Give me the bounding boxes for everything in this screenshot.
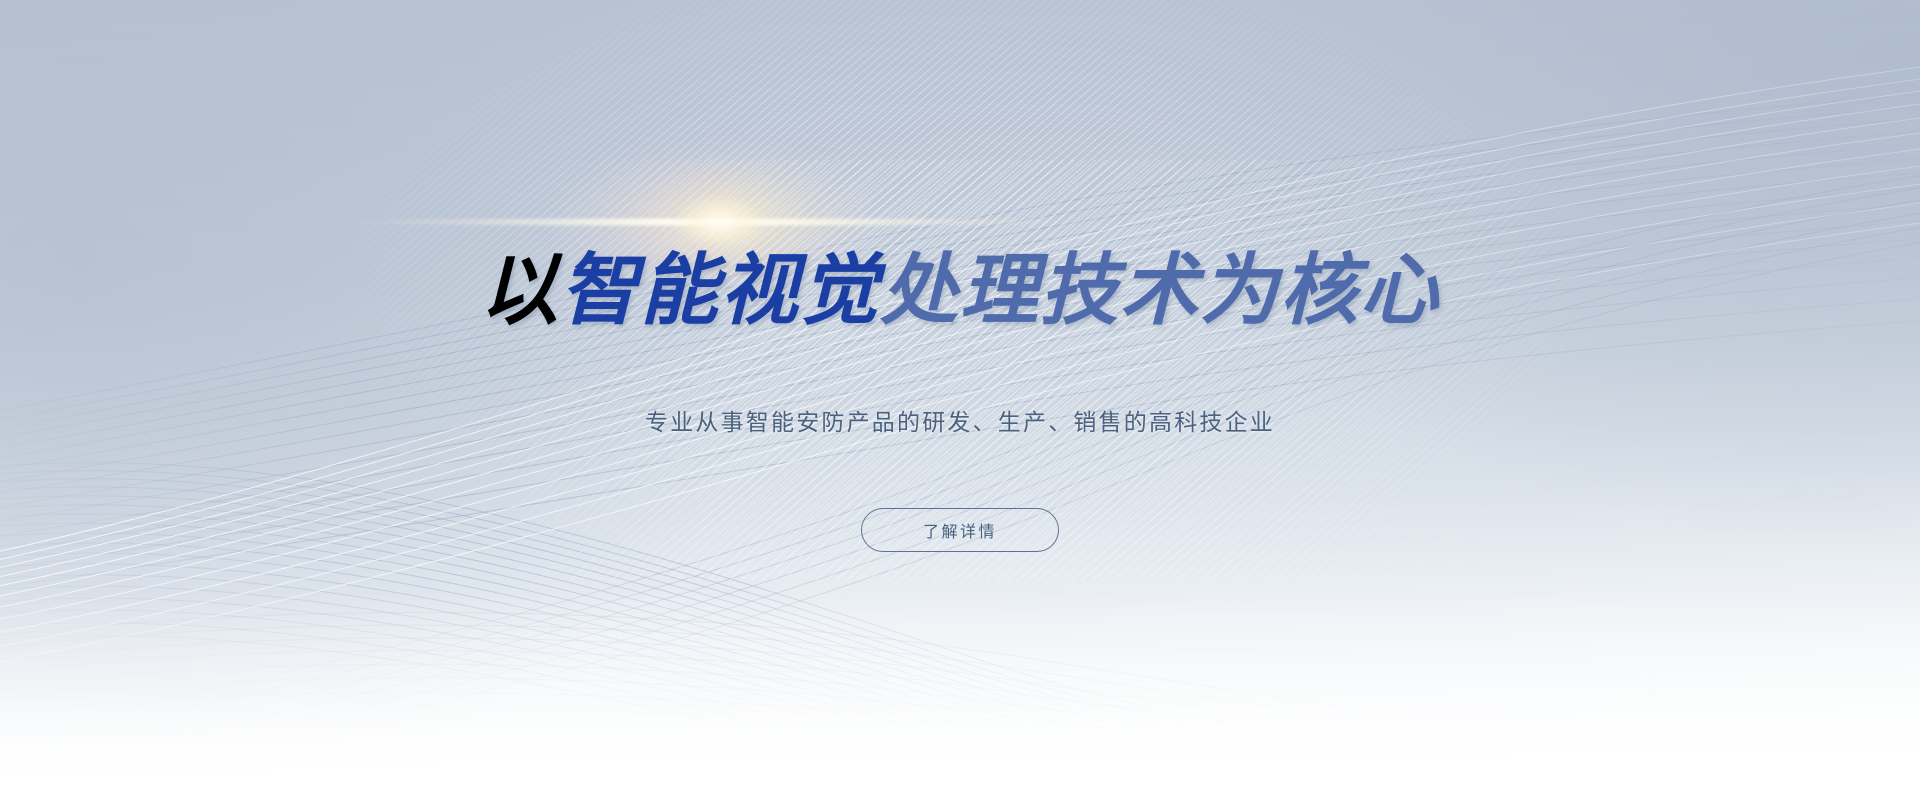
page-subtitle: 专业从事智能安防产品的研发、生产、销售的高科技企业 (645, 403, 1275, 437)
hero-banner: 以智能视觉处理技术为核心 专业从事智能安防产品的研发、生产、销售的高科技企业 了… (0, 0, 1920, 800)
page-title: 以智能视觉处理技术为核心 (480, 252, 1440, 330)
headline-segment-3: 处理技术为核心 (880, 246, 1440, 336)
headline-segment-1: 以 (480, 246, 560, 336)
headline-segment-2: 智能视觉 (560, 246, 880, 336)
hero-content: 以智能视觉处理技术为核心 专业从事智能安防产品的研发、生产、销售的高科技企业 了… (0, 0, 1920, 800)
learn-more-button[interactable]: 了解详情 (861, 508, 1059, 552)
